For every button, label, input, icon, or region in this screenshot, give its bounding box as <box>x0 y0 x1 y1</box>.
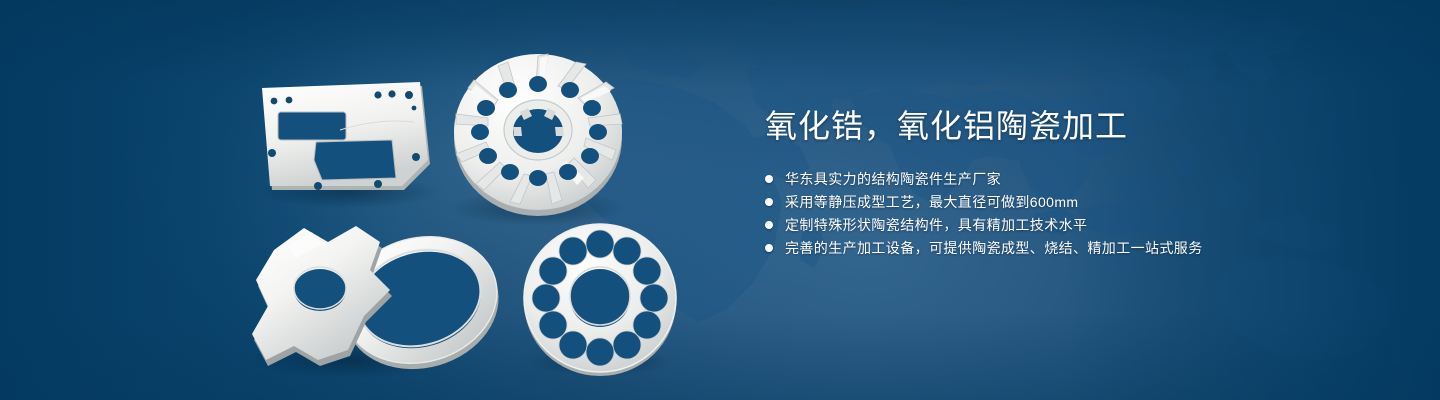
bullet-dot-icon <box>765 221 773 229</box>
feature-bullet-item: 华东具实力的结构陶瓷件生产厂家 <box>765 168 1325 190</box>
feature-bullet-text: 完善的生产加工设备，可提供陶瓷成型、烧结、精加工一站式服务 <box>785 237 1203 259</box>
banner-headline: 氧化锆，氧化铝陶瓷加工 <box>765 106 1325 146</box>
bullet-dot-icon <box>765 244 773 252</box>
promo-banner: 氧化锆，氧化铝陶瓷加工 华东具实力的结构陶瓷件生产厂家 采用等静压成型工艺，最大… <box>0 0 1440 400</box>
bullet-dot-icon <box>765 175 773 183</box>
feature-bullet-text: 定制特殊形状陶瓷结构件，具有精加工技术水平 <box>785 214 1087 236</box>
feature-bullet-text: 采用等静压成型工艺，最大直径可做到600mm <box>785 191 1078 213</box>
feature-bullet-item: 完善的生产加工设备，可提供陶瓷成型、烧结、精加工一站式服务 <box>765 237 1325 259</box>
feature-bullet-list: 华东具实力的结构陶瓷件生产厂家 采用等静压成型工艺，最大直径可做到600mm 定… <box>765 168 1325 259</box>
feature-bullet-text: 华东具实力的结构陶瓷件生产厂家 <box>785 168 1001 190</box>
banner-text-block: 氧化锆，氧化铝陶瓷加工 华东具实力的结构陶瓷件生产厂家 采用等静压成型工艺，最大… <box>765 106 1325 260</box>
feature-bullet-item: 定制特殊形状陶瓷结构件，具有精加工技术水平 <box>765 214 1325 236</box>
bullet-dot-icon <box>765 198 773 206</box>
feature-bullet-item: 采用等静压成型工艺，最大直径可做到600mm <box>765 191 1325 213</box>
